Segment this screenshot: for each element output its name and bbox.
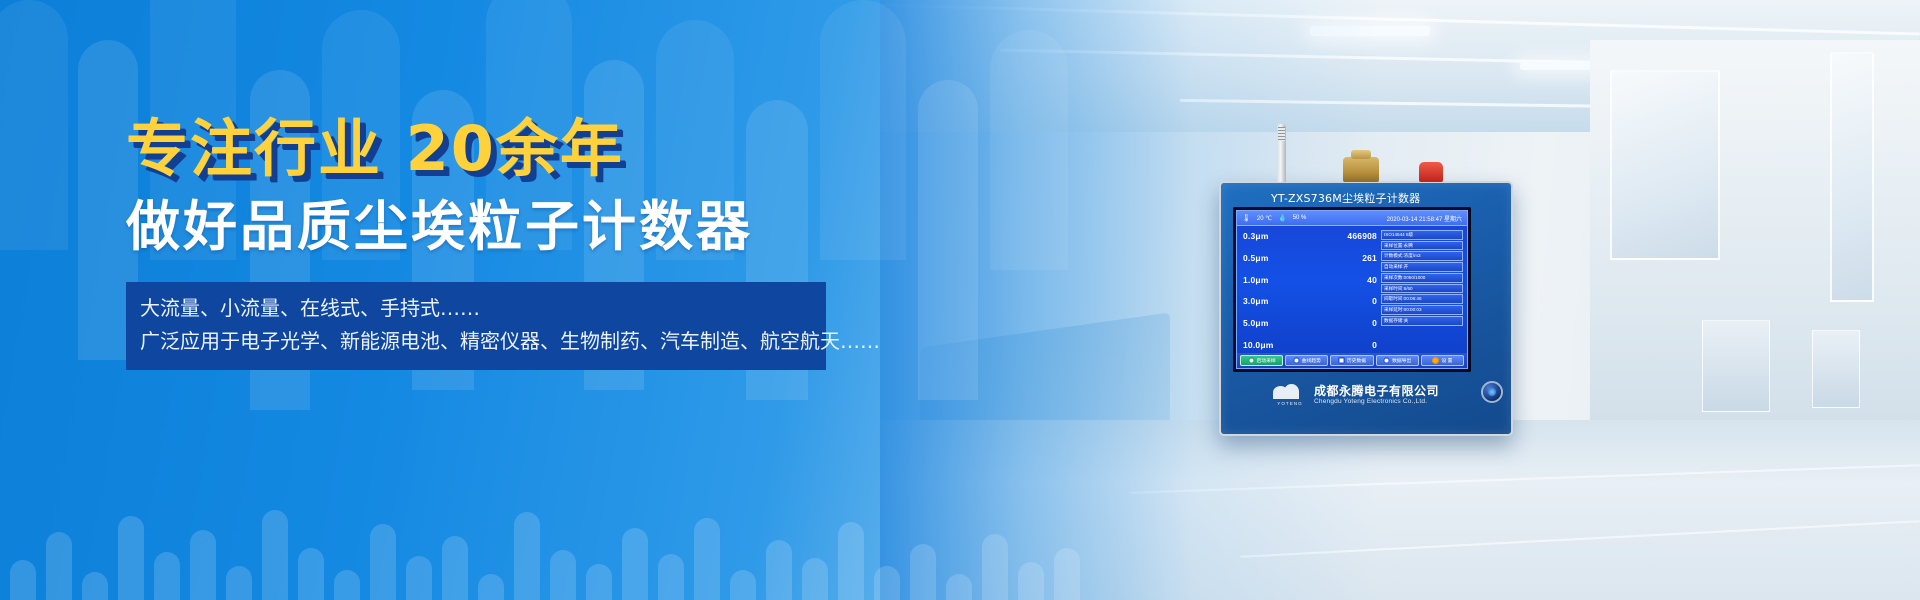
brand-names: 成都永腾电子有限公司 Chengdu Yoteng Electronics Co… [1314, 385, 1439, 406]
info-row: 数据存储:关 [1381, 316, 1463, 326]
info-row: 采样位置:永腾 [1381, 241, 1463, 251]
headline-primary: 专注行业 20余年 [126, 118, 886, 180]
particle-count-value: 466908 [1347, 231, 1377, 241]
lcd-main-area: 0.3μm 466908 0.5μm 261 1.0μm 40 3.0μm [1237, 226, 1467, 353]
particle-count-value: 0 [1372, 340, 1377, 350]
brass-inlet-knob [1343, 157, 1379, 182]
button-label: 数据导出 [1392, 357, 1411, 364]
info-row: 自动采样:开 [1381, 262, 1463, 272]
sampling-info-panel: ISO14644 5级 采样位置:永腾 计数模式:浓度/m3 自动采样:开 采样… [1381, 229, 1463, 353]
particle-size-label: 0.5μm [1243, 253, 1269, 263]
device-screen-bezel: 🌡 20 ℃ 💧 50 % 2020-03-14 21:58:47 星期六 0.… [1233, 207, 1471, 372]
table-row: 10.0μm 0 [1243, 340, 1377, 350]
info-row: 采样次数:0050/1000 [1381, 273, 1463, 283]
datetime-value: 2020-03-14 21:58:47 星期六 [1387, 214, 1462, 223]
table-row: 3.0μm 0 [1243, 296, 1377, 306]
brand-name-cn: 成都永腾电子有限公司 [1314, 385, 1439, 398]
trend-curve-icon [1293, 357, 1300, 364]
history-data-button[interactable]: 历史数据 [1330, 355, 1373, 366]
gear-icon [1432, 357, 1439, 364]
subtext-line-2: 广泛应用于电子光学、新能源电池、精密仪器、生物制药、汽车制造、航空航天…… [140, 325, 812, 358]
particle-count-value: 0 [1372, 318, 1377, 328]
lcd-display[interactable]: 🌡 20 ℃ 💧 50 % 2020-03-14 21:58:47 星期六 0.… [1236, 210, 1468, 369]
water-drop-icon: 💧 [1278, 215, 1287, 222]
trend-curve-button[interactable]: 曲线趋势 [1285, 355, 1328, 366]
particle-count-value: 0 [1372, 296, 1377, 306]
particle-counter-device: YT-ZXS736M尘埃粒子计数器 🌡 20 ℃ 💧 50 % 2020-03-… [1219, 181, 1513, 436]
start-sampling-icon [1248, 357, 1255, 364]
button-label: 曲线趋势 [1302, 357, 1321, 364]
particle-count-value: 40 [1367, 275, 1377, 285]
particle-size-label: 0.3μm [1243, 231, 1269, 241]
marketing-copy: 专注行业 20余年 做好品质尘埃粒子计数器 大流量、小流量、在线式、手持式…… … [126, 118, 886, 370]
lcd-status-bar: 🌡 20 ℃ 💧 50 % 2020-03-14 21:58:47 星期六 [1237, 211, 1467, 226]
logo-wordmark: YOTENG [1273, 401, 1307, 406]
device-model-title: YT-ZXS736M尘埃粒子计数器 [1271, 190, 1420, 206]
alarm-lamp [1419, 162, 1443, 182]
table-row: 0.5μm 261 [1243, 253, 1377, 263]
decorative-bottom-strip [0, 488, 1140, 600]
table-row: 0.3μm 466908 [1243, 231, 1377, 241]
yoteng-logo-icon: YOTENG [1273, 384, 1307, 406]
subtext-band: 大流量、小流量、在线式、手持式…… 广泛应用于电子光学、新能源电池、精密仪器、生… [126, 282, 826, 370]
power-button[interactable] [1481, 381, 1503, 403]
thermometer-icon: 🌡 [1242, 215, 1251, 222]
export-data-icon [1383, 357, 1390, 364]
subtext-line-1: 大流量、小流量、在线式、手持式…… [140, 292, 812, 325]
history-data-icon [1338, 357, 1345, 364]
particle-size-label: 5.0μm [1243, 318, 1269, 328]
promo-banner: 专注行业 20余年 做好品质尘埃粒子计数器 大流量、小流量、在线式、手持式…… … [0, 0, 1920, 600]
device-brand-plate: YOTENG 成都永腾电子有限公司 Chengdu Yoteng Electro… [1233, 378, 1471, 412]
particle-count-value: 261 [1362, 253, 1377, 263]
temperature-value: 20 ℃ [1257, 215, 1272, 222]
button-label: 设 置 [1441, 357, 1452, 364]
particle-size-table: 0.3μm 466908 0.5μm 261 1.0μm 40 3.0μm [1243, 229, 1377, 353]
export-data-button[interactable]: 数据导出 [1376, 355, 1419, 366]
info-row: 间歇时间:00:06:46 [1381, 294, 1463, 304]
particle-size-label: 10.0μm [1243, 340, 1274, 350]
humidity-value: 50 % [1293, 215, 1307, 221]
info-row: ISO14644 5级 [1381, 230, 1463, 240]
table-row: 5.0μm 0 [1243, 318, 1377, 328]
info-row: 计数模式:浓度/m3 [1381, 251, 1463, 261]
start-sampling-button[interactable]: 启动采样 [1240, 355, 1283, 366]
button-label: 启动采样 [1257, 357, 1276, 364]
particle-size-label: 1.0μm [1243, 275, 1269, 285]
brand-name-en: Chengdu Yoteng Electronics Co.,Ltd. [1314, 398, 1439, 406]
info-row: 采样延时:00:00:03 [1381, 305, 1463, 315]
settings-button[interactable]: 设 置 [1421, 355, 1464, 366]
button-label: 历史数据 [1347, 357, 1366, 364]
info-row: 采样时间:6/60 [1381, 284, 1463, 294]
sensor-probe [1277, 124, 1286, 182]
lcd-toolbar: 启动采样 曲线趋势 历史数据 数据导出 [1237, 353, 1467, 368]
table-row: 1.0μm 40 [1243, 275, 1377, 285]
headline-secondary: 做好品质尘埃粒子计数器 [126, 198, 886, 256]
particle-size-label: 3.0μm [1243, 296, 1269, 306]
